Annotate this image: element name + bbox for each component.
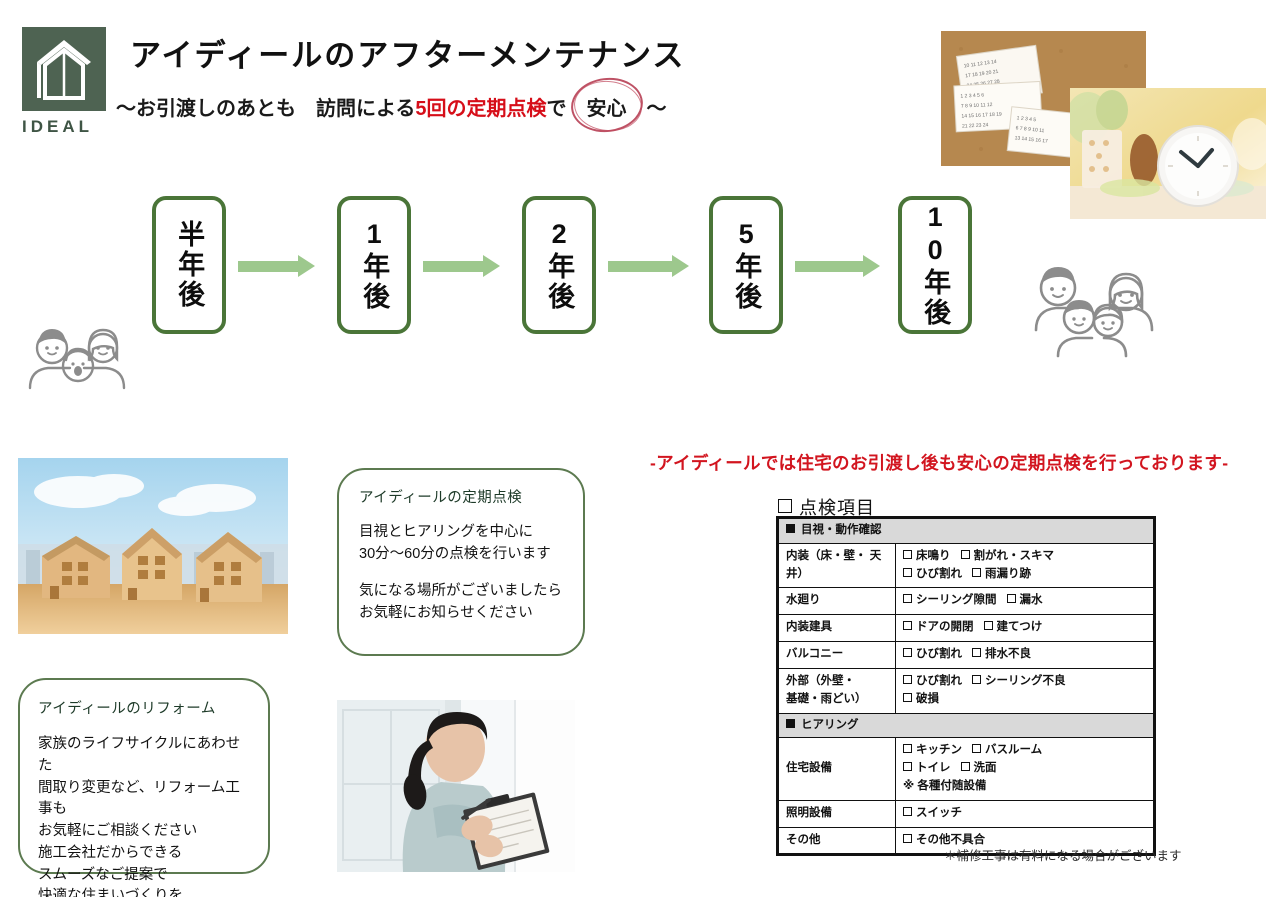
inspection-items-table: 目視・動作確認 内装（床・壁・ 天井） 床鳴り割がれ・スキマ ひび割れ雨漏り跡 … <box>776 516 1156 856</box>
family-of-three-icon <box>18 318 136 390</box>
table-row: 水廻り シーリング隙間漏水 <box>778 588 1155 615</box>
timeline-arrow-1 <box>238 258 316 274</box>
section-title: ヒアリング <box>801 719 859 731</box>
inspection-table-heading-label: 点検項目 <box>799 498 875 518</box>
filled-square-icon <box>786 524 795 533</box>
right-panel-footnote: ＊補修工事は有料になる場合がございます <box>944 845 1182 864</box>
section-header-visual: 目視・動作確認 <box>778 518 1155 544</box>
option-item[interactable]: 破損 <box>903 691 939 709</box>
checkbox-icon[interactable] <box>1007 594 1016 603</box>
row-category: 内装建具 <box>778 615 896 642</box>
option-item[interactable]: バスルーム <box>972 742 1042 760</box>
row-options: ひび割れシーリング不良 破損 <box>896 668 1155 713</box>
reform-card-line: 施工会社だからできる <box>38 843 250 865</box>
table-row: バルコニー ひび割れ排水不良 <box>778 642 1155 669</box>
checkbox-icon[interactable] <box>903 834 912 843</box>
option-item[interactable]: 床鳴り <box>903 548 951 566</box>
option-item[interactable]: ひび割れ <box>903 673 962 691</box>
timeline-step-label: 半年後 <box>175 220 203 310</box>
option-item[interactable]: シーリング不良 <box>972 673 1066 691</box>
circled-keyword: 安心 <box>571 90 643 123</box>
option-item[interactable]: 雨漏り跡 <box>972 566 1031 584</box>
subtitle-suffix: ～ <box>647 92 667 121</box>
timeline-step-label: 10年後 <box>921 202 949 328</box>
checkbox-icon[interactable] <box>972 648 981 657</box>
inspection-card-line: 目視とヒアリングを中心に <box>359 521 563 543</box>
row-options: キッチンバスルーム トイレ洗面 ※ 各種付随設備 <box>896 738 1155 800</box>
circled-keyword-text: 安心 <box>587 98 627 120</box>
row-category: 内装（床・壁・ 天井） <box>778 543 896 588</box>
poster-page: IDEAL アイディールのアフターメンテナンス ～お引渡しのあとも 訪問による … <box>0 0 1280 897</box>
house-logo-icon <box>22 27 106 111</box>
row-category: 照明設備 <box>778 800 896 827</box>
option-item[interactable]: 洗面 <box>961 760 997 778</box>
table-row: 内装建具 ドアの開閉建てつけ <box>778 615 1155 642</box>
row-category: 住宅設備 <box>778 738 896 800</box>
house-logo-glyph <box>35 38 93 100</box>
checkbox-icon[interactable] <box>903 762 912 771</box>
inspection-info-card: アイディールの定期点検 目視とヒアリングを中心に 30分～60分の点検を行います… <box>337 468 585 656</box>
checkbox-icon[interactable] <box>903 675 912 684</box>
row-options: ドアの開閉建てつけ <box>896 615 1155 642</box>
timeline-step-5[interactable]: 10年後 <box>898 196 972 334</box>
svg-text:1 2 3 4 5 6: 1 2 3 4 5 6 <box>960 92 984 99</box>
inspection-card-line: 気になる場所がございましたら <box>359 580 563 602</box>
checkbox-icon[interactable] <box>984 621 993 630</box>
right-panel-banner: -アイディールでは住宅のお引渡し後も安心の定期点検を行っております- <box>650 450 1270 475</box>
inspector-with-clipboard-photo <box>337 700 575 872</box>
option-item[interactable]: ドアの開閉 <box>903 619 974 637</box>
timeline-arrow-3 <box>608 258 690 274</box>
family-of-four-icon <box>1018 258 1168 358</box>
option-item[interactable]: 割がれ・スキマ <box>961 548 1055 566</box>
inspection-card-title: アイディールの定期点検 <box>359 486 563 507</box>
timeline-step-3[interactable]: 2年後 <box>522 196 596 334</box>
timeline-step-2[interactable]: 1年後 <box>337 196 411 334</box>
checkbox-icon[interactable] <box>903 744 912 753</box>
option-item[interactable]: ひび割れ <box>903 566 962 584</box>
filled-square-icon <box>786 719 795 728</box>
brand-logo: IDEAL <box>22 27 114 137</box>
row-options: ひび割れ排水不良 <box>896 642 1155 669</box>
subtitle-mid: で <box>547 92 567 121</box>
timeline-step-label: 1年後 <box>360 219 388 312</box>
checkbox-icon[interactable] <box>903 807 912 816</box>
row-options: スイッチ <box>896 800 1155 827</box>
reform-card-title: アイディールのリフォーム <box>38 697 250 718</box>
row-category: 水廻り <box>778 588 896 615</box>
timeline-step-1[interactable]: 半年後 <box>152 196 226 334</box>
table-row: 照明設備 スイッチ <box>778 800 1155 827</box>
table-row: 住宅設備 キッチンバスルーム トイレ洗面 ※ 各種付随設備 <box>778 738 1155 800</box>
subtitle-highlight: 5回の定期点検 <box>415 92 546 121</box>
checkbox-icon <box>778 499 792 513</box>
checkbox-icon[interactable] <box>903 693 912 702</box>
timeline-arrow-4 <box>795 258 881 274</box>
page-subtitle: ～お引渡しのあとも 訪問による 5回の定期点検 で 安心 ～ <box>116 90 667 123</box>
table-row: 内装（床・壁・ 天井） 床鳴り割がれ・スキマ ひび割れ雨漏り跡 <box>778 543 1155 588</box>
wooden-houses-photo <box>18 458 288 634</box>
option-item[interactable]: 漏水 <box>1007 592 1043 610</box>
checkbox-icon[interactable] <box>972 744 981 753</box>
table-section-row: ヒアリング <box>778 713 1155 738</box>
timeline-step-label: 2年後 <box>545 219 573 312</box>
row-options: シーリング隙間漏水 <box>896 588 1155 615</box>
inspection-card-line: お気軽にお知らせください <box>359 602 563 624</box>
option-item[interactable]: ひび割れ <box>903 646 962 664</box>
timeline-step-4[interactable]: 5年後 <box>709 196 783 334</box>
option-item[interactable]: 排水不良 <box>972 646 1031 664</box>
option-item[interactable]: シーリング隙間 <box>903 592 997 610</box>
timeline-step-label: 5年後 <box>732 219 760 312</box>
reform-card-line: スムーズなご提案で <box>38 865 250 887</box>
page-title: アイディールのアフターメンテナンス <box>130 30 685 75</box>
checkbox-icon[interactable] <box>903 568 912 577</box>
table-section-row: 目視・動作確認 <box>778 518 1155 544</box>
option-item[interactable]: トイレ <box>903 760 951 778</box>
section-title: 目視・動作確認 <box>801 524 882 536</box>
checkbox-icon[interactable] <box>961 550 970 559</box>
row-note: ※ 各種付随設備 <box>903 778 1146 796</box>
checkbox-icon[interactable] <box>972 568 981 577</box>
checkbox-icon[interactable] <box>903 648 912 657</box>
reform-card-line: 家族のライフサイクルにあわせた <box>38 734 250 778</box>
option-item[interactable]: キッチン <box>903 742 962 760</box>
reform-card-line: 快適な住まいづくりを <box>38 886 250 897</box>
checkbox-icon[interactable] <box>903 550 912 559</box>
inspection-card-line: 30分～60分の点検を行います <box>359 543 563 565</box>
checkbox-icon[interactable] <box>961 762 970 771</box>
timeline-arrow-2 <box>423 258 501 274</box>
table-row: 外部（外壁・ 基礎・雨どい） ひび割れシーリング不良 破損 <box>778 668 1155 713</box>
row-options: 床鳴り割がれ・スキマ ひび割れ雨漏り跡 <box>896 543 1155 588</box>
row-category: バルコニー <box>778 642 896 669</box>
subtitle-prefix: ～お引渡しのあとも 訪問による <box>116 92 415 121</box>
option-item[interactable]: 建てつけ <box>984 619 1043 637</box>
logo-wordmark: IDEAL <box>22 117 114 137</box>
section-header-visual: ヒアリング <box>778 713 1155 738</box>
option-item[interactable]: スイッチ <box>903 805 962 823</box>
checkbox-icon[interactable] <box>903 594 912 603</box>
reform-card-line: お気軽にご相談ください <box>38 821 250 843</box>
checkbox-icon[interactable] <box>903 621 912 630</box>
reform-info-card: アイディールのリフォーム 家族のライフサイクルにあわせた 間取り変更など、リフォ… <box>18 678 270 874</box>
row-category: その他 <box>778 827 896 855</box>
row-category: 外部（外壁・ 基礎・雨どい） <box>778 668 896 713</box>
checkbox-icon[interactable] <box>972 675 981 684</box>
reform-card-line: 間取り変更など、リフォーム工事も <box>38 778 250 822</box>
